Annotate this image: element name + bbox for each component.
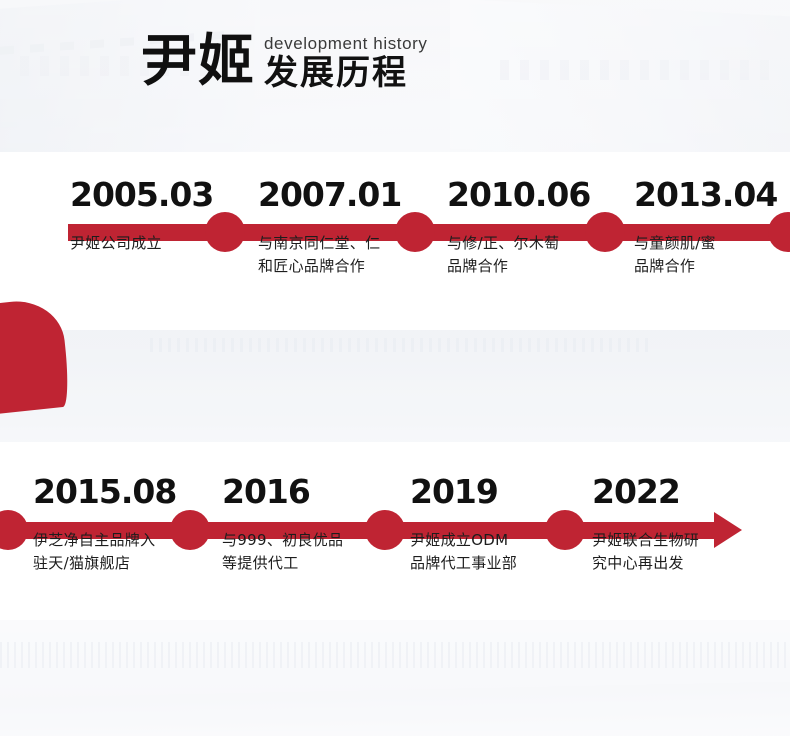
timeline-entry-2010: 2010.06 与修/正、尔木萄 品牌合作 xyxy=(447,178,622,318)
timeline-card-row-2: 2015.08 伊芝净自主品牌入 驻天/猫旗舰店 2016 与999、初良优品 … xyxy=(0,442,790,620)
timeline-entry-desc: 与修/正、尔木萄 品牌合作 xyxy=(447,232,559,279)
timeline-entry-2022: 2022 尹姬联合生物研 究中心再出发 xyxy=(592,475,772,615)
timeline-entry-year: 2019 xyxy=(410,475,498,508)
brand-name-cn: 尹姬 xyxy=(141,34,255,90)
timeline-entry-year: 2022 xyxy=(592,475,680,508)
timeline-entry-desc: 尹姬成立ODM 品牌代工事业部 xyxy=(410,529,517,576)
timeline-entry-year: 2013.04 xyxy=(634,178,777,211)
timeline-entry-desc: 尹姬联合生物研 究中心再出发 xyxy=(592,529,699,576)
timeline-entry-2005: 2005.03 尹姬公司成立 xyxy=(70,178,245,318)
timeline-card-row-1: 2005.03 尹姬公司成立 2007.01 与南京同仁堂、仁 和匠心品牌合作 … xyxy=(0,152,790,330)
timeline-entry-year: 2015.08 xyxy=(33,475,176,508)
timeline-entry-desc: 与999、初良优品 等提供代工 xyxy=(222,529,343,576)
timeline-entry-2015: 2015.08 伊芝净自主品牌入 驻天/猫旗舰店 xyxy=(33,475,213,615)
page-title-cn: 发展历程 xyxy=(264,56,428,90)
timeline-entry-year: 2007.01 xyxy=(258,178,401,211)
page-header: 尹姬 development history 发展历程 xyxy=(0,0,790,152)
timeline-entry-2007: 2007.01 与南京同仁堂、仁 和匠心品牌合作 xyxy=(258,178,433,318)
timeline-entry-2019: 2019 尹姬成立ODM 品牌代工事业部 xyxy=(410,475,590,615)
timeline-entry-desc: 与南京同仁堂、仁 和匠心品牌合作 xyxy=(258,232,380,279)
timeline-entry-2013: 2013.04 与童颜肌/蜜 品牌合作 xyxy=(634,178,790,318)
timeline-entry-year: 2005.03 xyxy=(70,178,213,211)
timeline-entry-year: 2016 xyxy=(222,475,310,508)
timeline-entry-desc: 尹姬公司成立 xyxy=(70,232,162,255)
timeline-node-5 xyxy=(0,510,28,550)
title-stack: development history 发展历程 xyxy=(264,35,428,90)
timeline-entry-year: 2010.06 xyxy=(447,178,590,211)
page-title-en: development history xyxy=(264,35,428,54)
flag-banner-start-icon xyxy=(0,297,71,418)
brand-title-block: 尹姬 development history 发展历程 xyxy=(141,34,428,90)
timeline-entry-desc: 与童颜肌/蜜 品牌合作 xyxy=(634,232,716,279)
timeline-entry-desc: 伊芝净自主品牌入 驻天/猫旗舰店 xyxy=(33,529,155,576)
timeline-entry-2016: 2016 与999、初良优品 等提供代工 xyxy=(222,475,402,615)
development-history-page: 尹姬 development history 发展历程 2005.03 尹姬公司… xyxy=(0,0,790,736)
